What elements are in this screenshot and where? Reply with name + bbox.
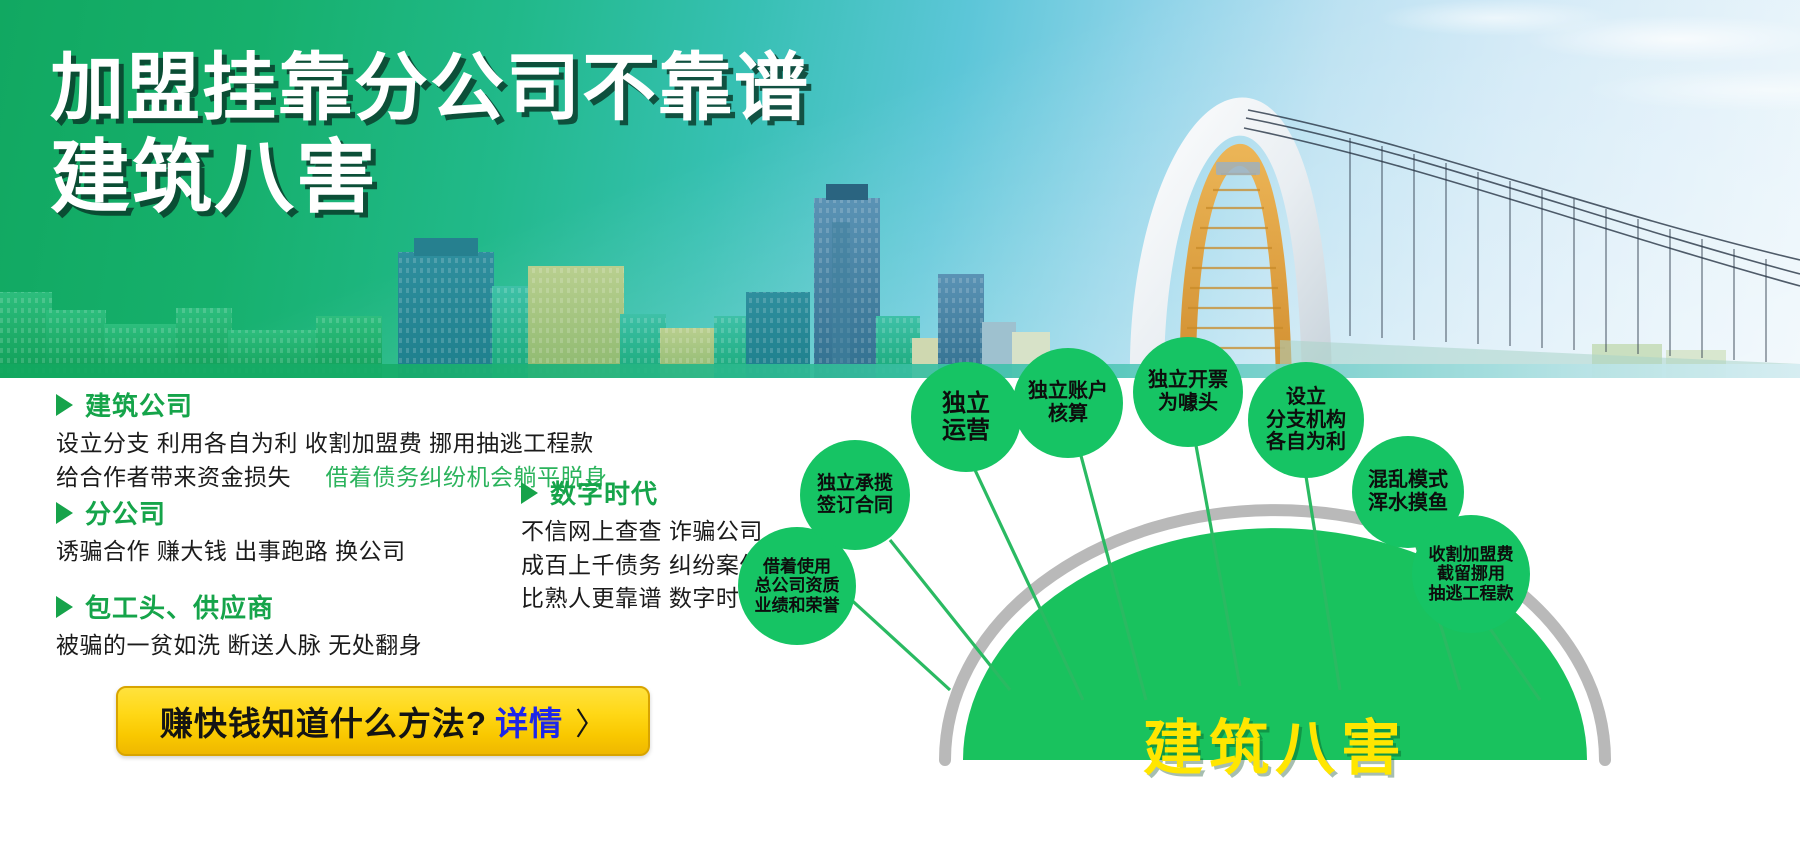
bubble-line: 为噱头 [1158,392,1218,414]
hero-title-line1: 加盟挂靠分公司不靠谱 [50,48,810,127]
bubble-franchise-fee-diversion[interactable]: 收割加盟费 截留挪用 抽逃工程款 [1412,515,1530,633]
bubble-line: 设立 [1286,386,1326,408]
bubble-line: 独立开票 [1148,369,1228,391]
bubble-line: 收割加盟费 [1429,545,1514,564]
bubble-line: 独立 [942,390,990,417]
bubble-line: 运营 [942,417,990,444]
bubble-line: 分支机构 [1266,409,1346,431]
banner-root: 加盟挂靠分公司不靠谱 建筑八害 建筑公司 设立分支 利用各自为利 收割加盟费 挪… [0,0,1800,844]
bubble-line: 混乱模式 [1368,469,1448,491]
bubble-line: 签订合同 [817,495,893,516]
bubble-line: 独立承揽 [817,473,893,494]
bubble-setup-branches[interactable]: 设立 分支机构 各自为利 [1248,362,1364,478]
bubble-line: 借着使用 [763,557,831,576]
bubble-line: 抽逃工程款 [1429,584,1514,603]
hero-title: 加盟挂靠分公司不靠谱 建筑八害 [50,48,810,221]
bubble-line: 截留挪用 [1437,564,1505,583]
bubble-line: 各自为利 [1266,431,1346,453]
bubble-line: 核算 [1048,403,1088,425]
bubble-line: 独立账户 [1028,380,1108,402]
bubble-independent-account[interactable]: 独立账户 核算 [1013,348,1123,458]
bubble-independent-invoicing[interactable]: 独立开票 为噱头 [1133,337,1243,447]
bubble-independent-operation[interactable]: 独立 运营 [911,362,1021,472]
bubble-independent-contracting[interactable]: 独立承揽 签订合同 [800,440,910,550]
hero-title-line2: 建筑八害 [50,135,810,221]
bubble-line: 浑水摸鱼 [1368,492,1448,514]
bubble-line: 总公司资质 [755,576,840,595]
bubble-line: 业绩和荣誉 [755,596,840,615]
